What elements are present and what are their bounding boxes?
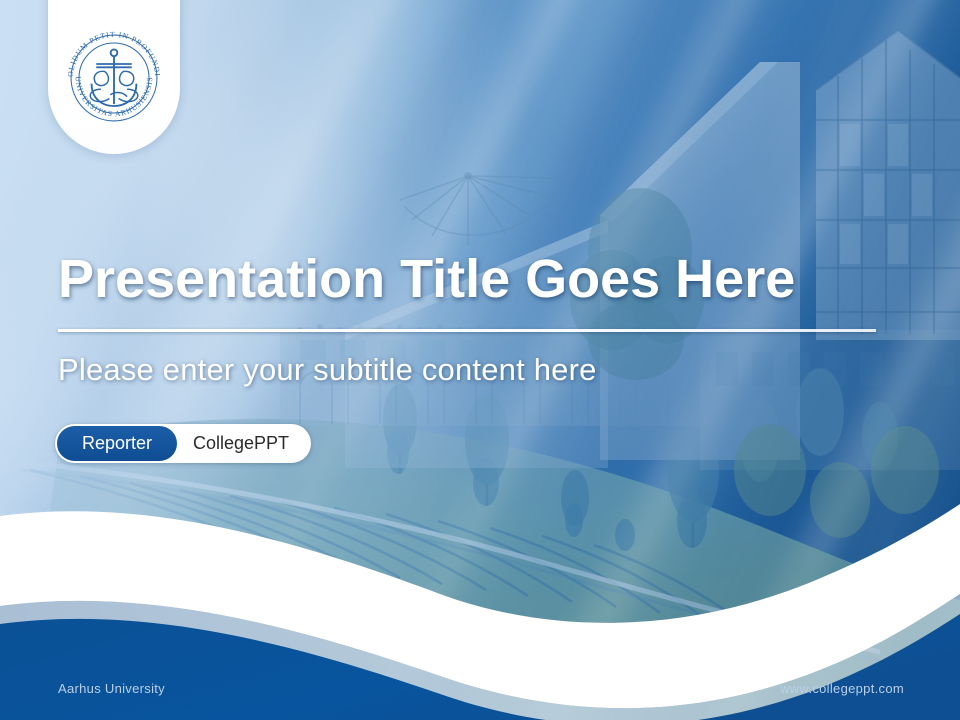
reporter-field[interactable]: Reporter CollegePPT: [55, 424, 311, 463]
presentation-slide: SOLIDUM PETIT IN PROFUNDIS UNIVERSITAS A…: [0, 0, 960, 720]
reporter-name: CollegePPT: [177, 433, 309, 454]
reporter-label: Reporter: [57, 426, 177, 461]
page-title: Presentation Title Goes Here: [58, 250, 898, 308]
page-subtitle: Please enter your subtitle content here: [58, 352, 597, 388]
aarhus-university-seal-icon: SOLIDUM PETIT IN PROFUNDIS UNIVERSITAS A…: [58, 22, 170, 134]
seal-motto-outer: SOLIDUM PETIT IN PROFUNDIS: [58, 22, 162, 77]
title-divider: [58, 329, 876, 332]
university-logo-badge: SOLIDUM PETIT IN PROFUNDIS UNIVERSITAS A…: [48, 0, 180, 154]
footer-website-url[interactable]: www.collegeppt.com: [780, 681, 904, 696]
footer-institution-name: Aarhus University: [58, 681, 165, 696]
